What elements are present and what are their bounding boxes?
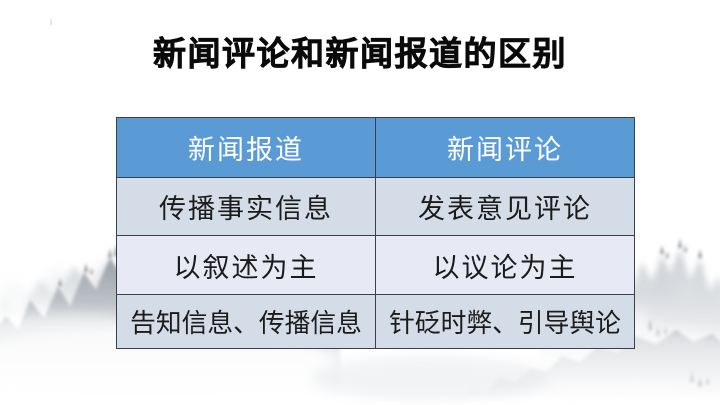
cell-text-r3c1: 告知信息、传播信息 (118, 303, 373, 340)
table-cell-r1c1: 传播事实信息 (117, 178, 376, 236)
cell-text-r2c2: 以议论为主 (376, 246, 634, 285)
table-cell-r3c2: 针砭时弊、引导舆论 (376, 295, 635, 349)
header-label-news-report: 新闻报道 (117, 128, 375, 167)
slide-canvas: 新闻评论和新闻报道的区别 新闻报道 新闻评论 传播事实信息 (0, 0, 720, 405)
header-label-news-commentary: 新闻评论 (376, 128, 634, 167)
cell-text-r1c2: 发表意见评论 (376, 187, 634, 226)
slide-title: 新闻评论和新闻报道的区别 (0, 34, 720, 74)
cell-text-r1c1: 传播事实信息 (117, 187, 375, 226)
table-header-cell-right: 新闻评论 (376, 118, 635, 178)
table-row: 告知信息、传播信息 针砭时弊、引导舆论 (117, 295, 635, 349)
table-header-cell-left: 新闻报道 (117, 118, 376, 178)
table-cell-r2c2: 以议论为主 (376, 236, 635, 295)
table-header-row: 新闻报道 新闻评论 (117, 118, 635, 178)
comparison-table-container: 新闻报道 新闻评论 传播事实信息 发表意见评论 以叙 (116, 117, 634, 349)
table-cell-r3c1: 告知信息、传播信息 (117, 295, 376, 349)
cell-text-r3c2: 针砭时弊、引导舆论 (377, 303, 632, 340)
table-cell-r1c2: 发表意见评论 (376, 178, 635, 236)
decorative-speck (50, 19, 52, 25)
cell-text-r2c1: 以叙述为主 (117, 246, 375, 285)
table-row: 传播事实信息 发表意见评论 (117, 178, 635, 236)
comparison-table: 新闻报道 新闻评论 传播事实信息 发表意见评论 以叙 (116, 117, 635, 349)
table-row: 以叙述为主 以议论为主 (117, 236, 635, 295)
table-cell-r2c1: 以叙述为主 (117, 236, 376, 295)
